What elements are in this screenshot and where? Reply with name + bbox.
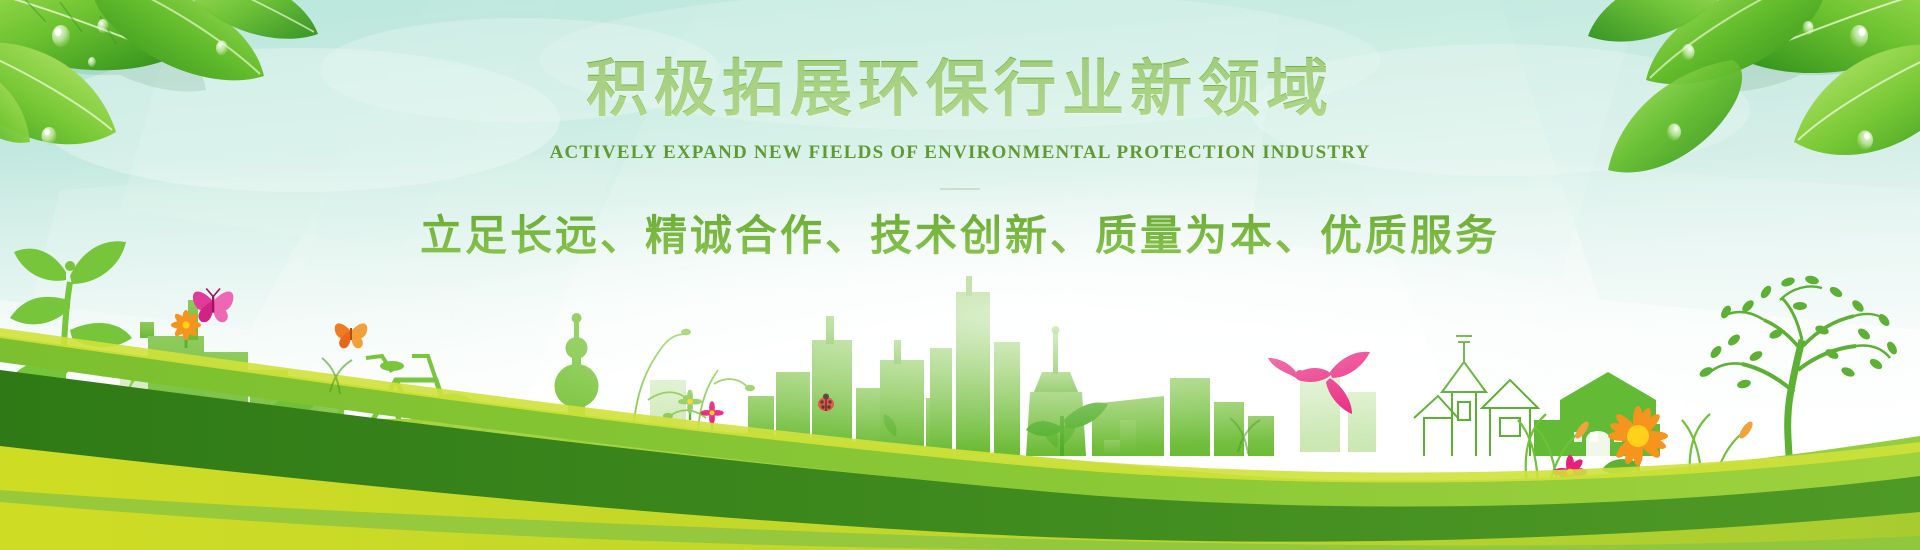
victorian-house-outline [1414, 336, 1538, 456]
leaf-cluster-top-right-icon [1580, 0, 1920, 200]
leaf-cluster-top-left-icon [0, 0, 330, 190]
eco-banner: 积极拓展环保行业新领域 ACTIVELY EXPAND NEW FIELDS O… [0, 0, 1920, 550]
divider [940, 188, 980, 190]
page-tagline: 立足长远、精诚合作、技术创新、质量为本、优质服务 [0, 190, 1920, 262]
